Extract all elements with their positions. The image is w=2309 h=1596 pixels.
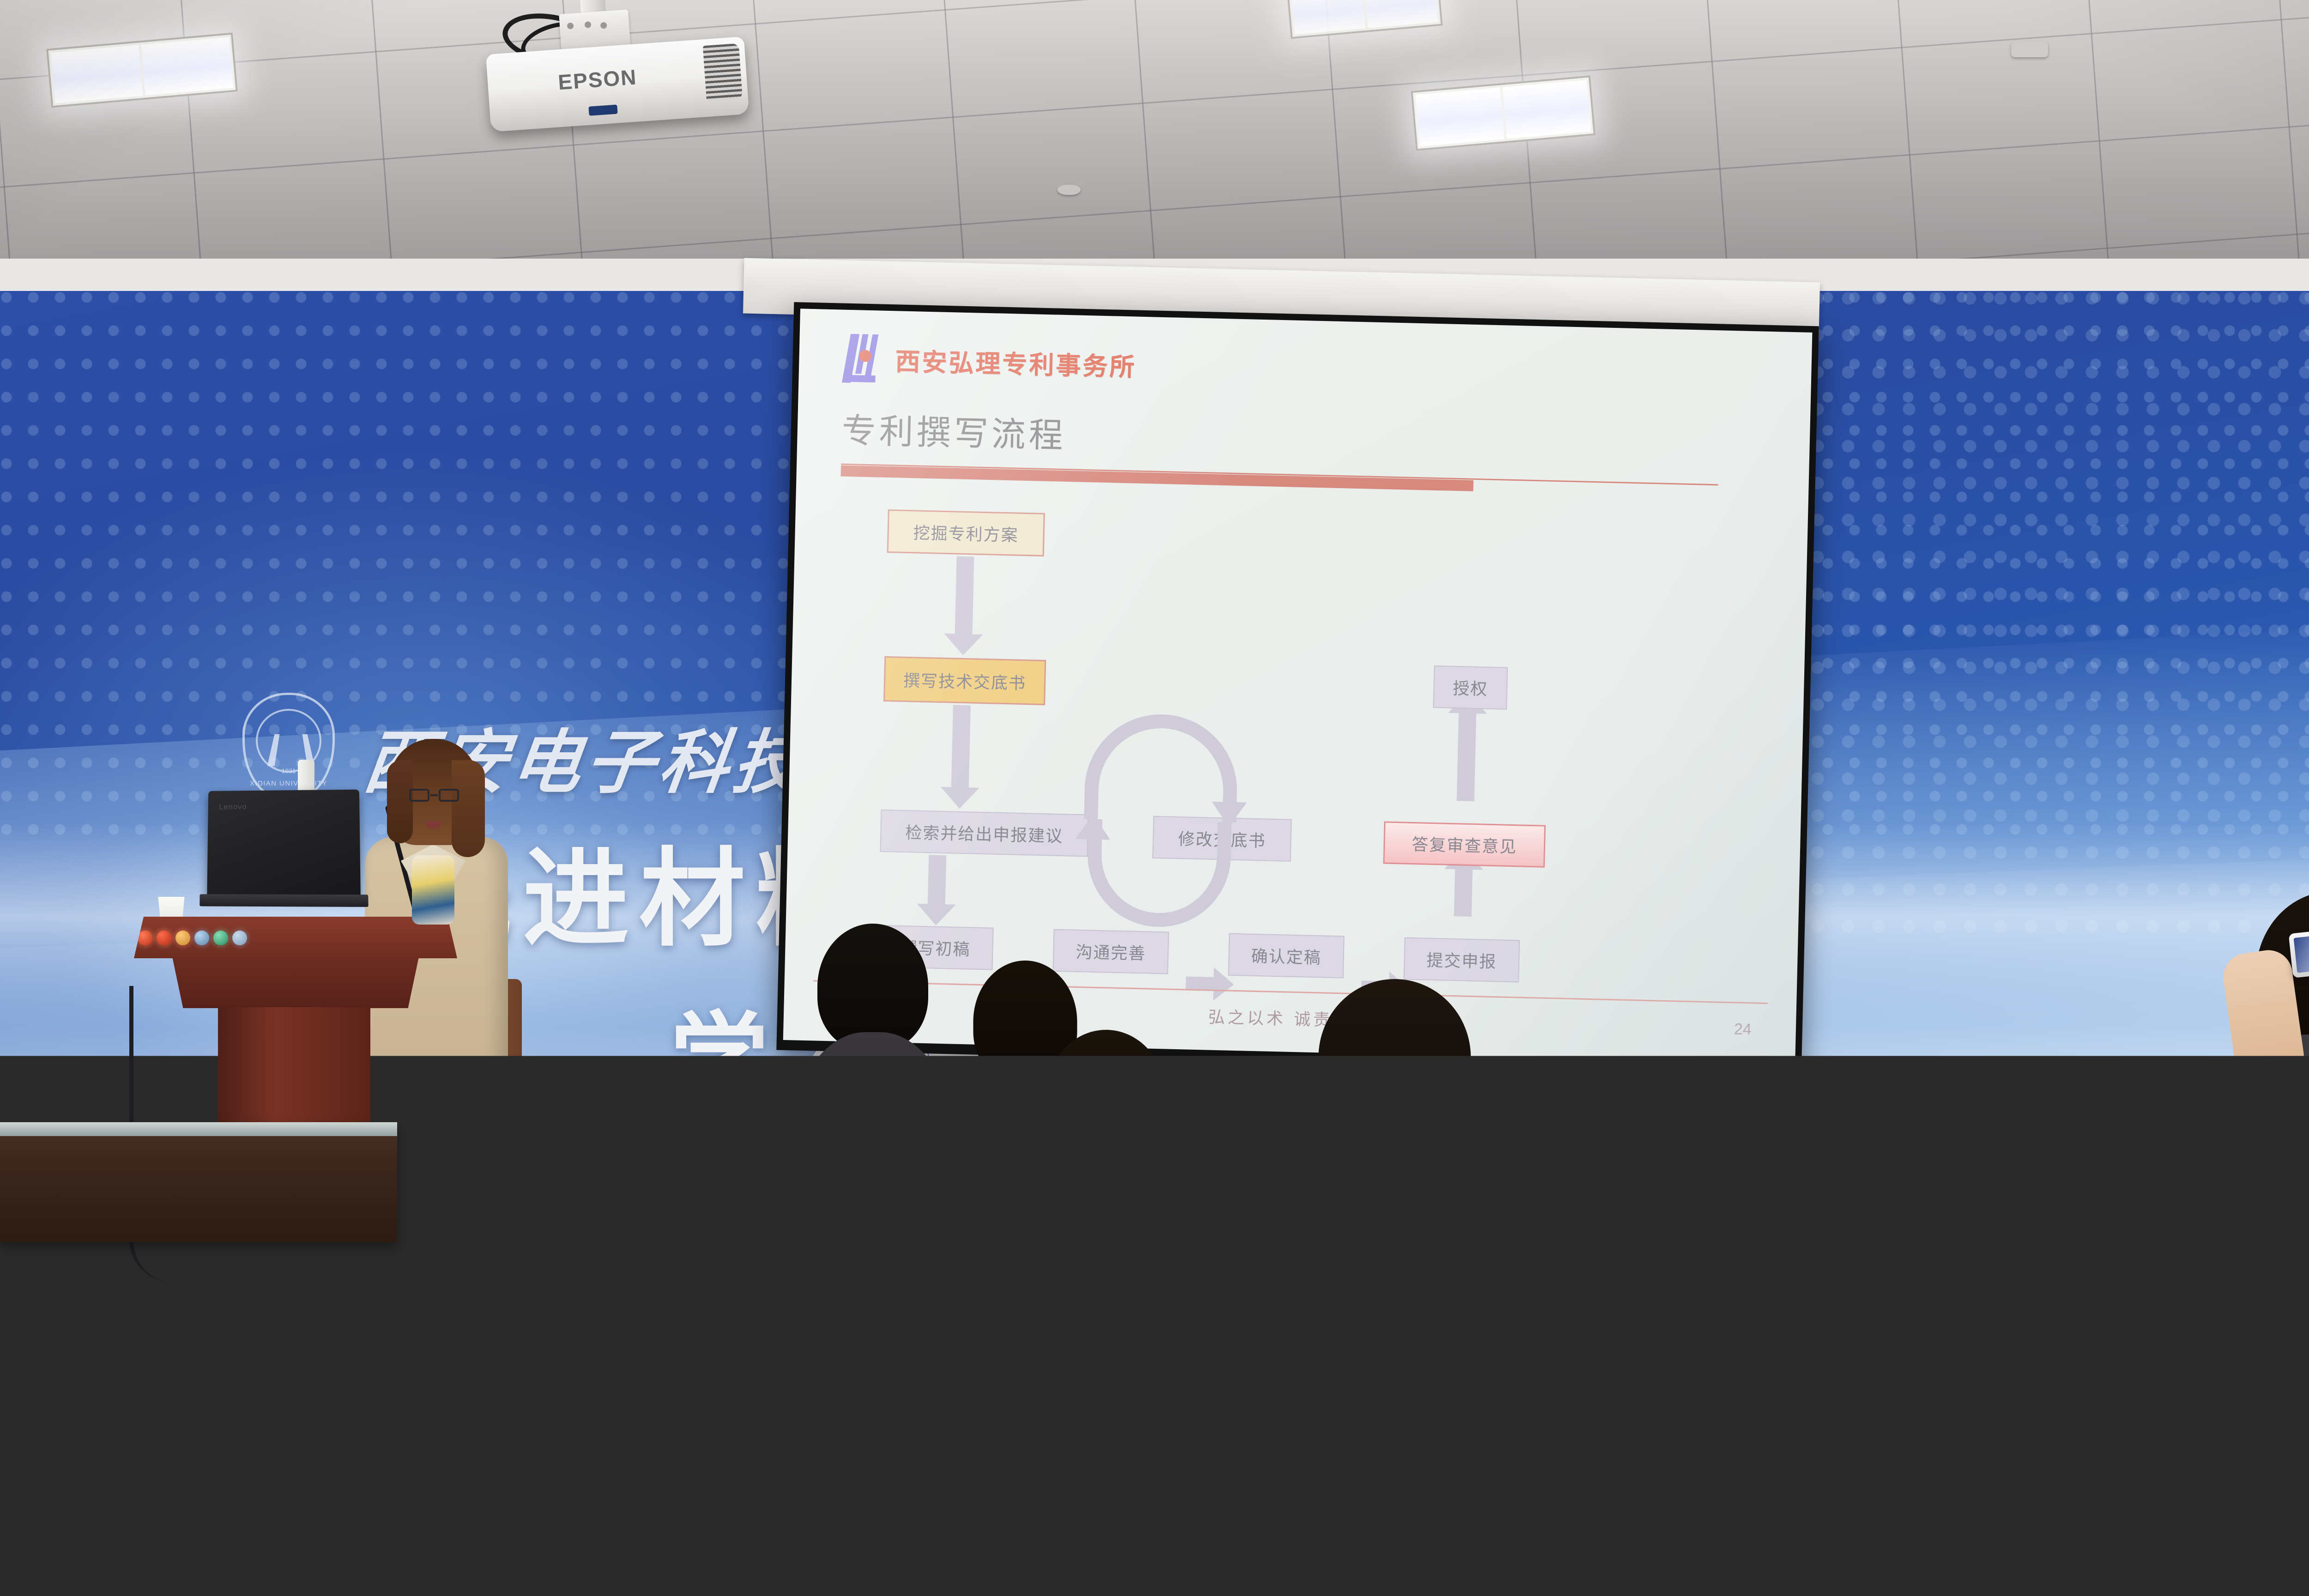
flow-arrow-tech-to-search <box>951 705 971 788</box>
drop-ceiling <box>0 0 2309 296</box>
presenter-scarf <box>412 855 454 925</box>
lecture-hall-scene: EPSON 1931 XIDIAN UNIVERSITY 西安电子科技大… 先进… <box>0 0 2309 1596</box>
podium-mid-band <box>162 957 429 1008</box>
laptop-brand-label: Lenovo <box>219 803 247 812</box>
slide-header: 西安弘理专利事务所 <box>843 332 1779 406</box>
flow-node-dig: 挖掘专利方案 <box>887 509 1045 556</box>
university-seal-icon: 1931 XIDIAN UNIVERSITY <box>242 693 335 799</box>
firm-logo-icon <box>843 332 884 385</box>
projector-brand-label: EPSON <box>557 64 638 95</box>
audience-paper-cup <box>1602 1113 1632 1153</box>
hoodie-frank-text: FRANK <box>1302 1076 1335 1183</box>
ceiling-shading <box>0 0 2309 296</box>
presenter-laptop[interactable]: Lenovo <box>207 790 361 897</box>
desk-row-front-center <box>868 1330 1422 1596</box>
flow-node-submit: 提交申报 <box>1403 937 1520 983</box>
wristwatch <box>2226 1058 2281 1073</box>
projector-lens <box>588 105 617 116</box>
firm-name-label: 西安弘理专利事务所 <box>895 341 1137 383</box>
seal-year: 1931 <box>245 767 332 774</box>
flow-arrow-response-to-grant <box>1457 712 1476 801</box>
laptop-lid: Lenovo <box>207 790 361 897</box>
flow-loop-arrows <box>1082 713 1239 929</box>
phone-screen <box>2294 928 2309 973</box>
flow-node-grant: 授权 <box>1433 665 1508 710</box>
flow-node-search: 检索并给出申报建议 <box>880 810 1088 857</box>
presenter-glasses-icon <box>409 789 459 802</box>
slide-page-number: 24 <box>1734 1020 1752 1039</box>
slide-title: 专利撰写流程 <box>841 403 1778 475</box>
desk-row-front-left <box>249 1390 767 1596</box>
flow-arrow-dig-to-tech <box>955 556 974 635</box>
smoke-detector-icon <box>1058 185 1081 195</box>
loop-arrowhead-bottom <box>1075 814 1111 840</box>
podium-top-surface <box>134 917 457 958</box>
presenter-hair-left <box>387 760 413 843</box>
flow-arrow-submit-to-response <box>1454 868 1472 917</box>
desk-row-far-right-front <box>2124 1409 2309 1596</box>
flow-arrow-search-to-draft <box>928 855 947 905</box>
patent-workflow-flowchart: 挖掘专利方案 撰写技术交底书 检索并给出申报建议 修改交底书 撰写初稿 <box>786 507 1807 937</box>
podium-control-buttons[interactable] <box>138 931 247 945</box>
flow-node-tech: 撰写技术交底书 <box>883 656 1046 705</box>
laptop-base <box>199 894 368 907</box>
ceiling-projector: EPSON <box>466 0 800 168</box>
ceiling-speaker-icon <box>2011 42 2048 57</box>
projector-vent-grille <box>703 43 743 101</box>
desk-row-mid-left <box>434 1302 785 1385</box>
seal-label: XIDIAN UNIVERSITY <box>245 780 332 787</box>
presenter-hair-right <box>452 760 485 857</box>
flow-node-finalize: 确认定稿 <box>1228 933 1344 979</box>
flow-node-response: 答复审查意见 <box>1383 821 1546 867</box>
